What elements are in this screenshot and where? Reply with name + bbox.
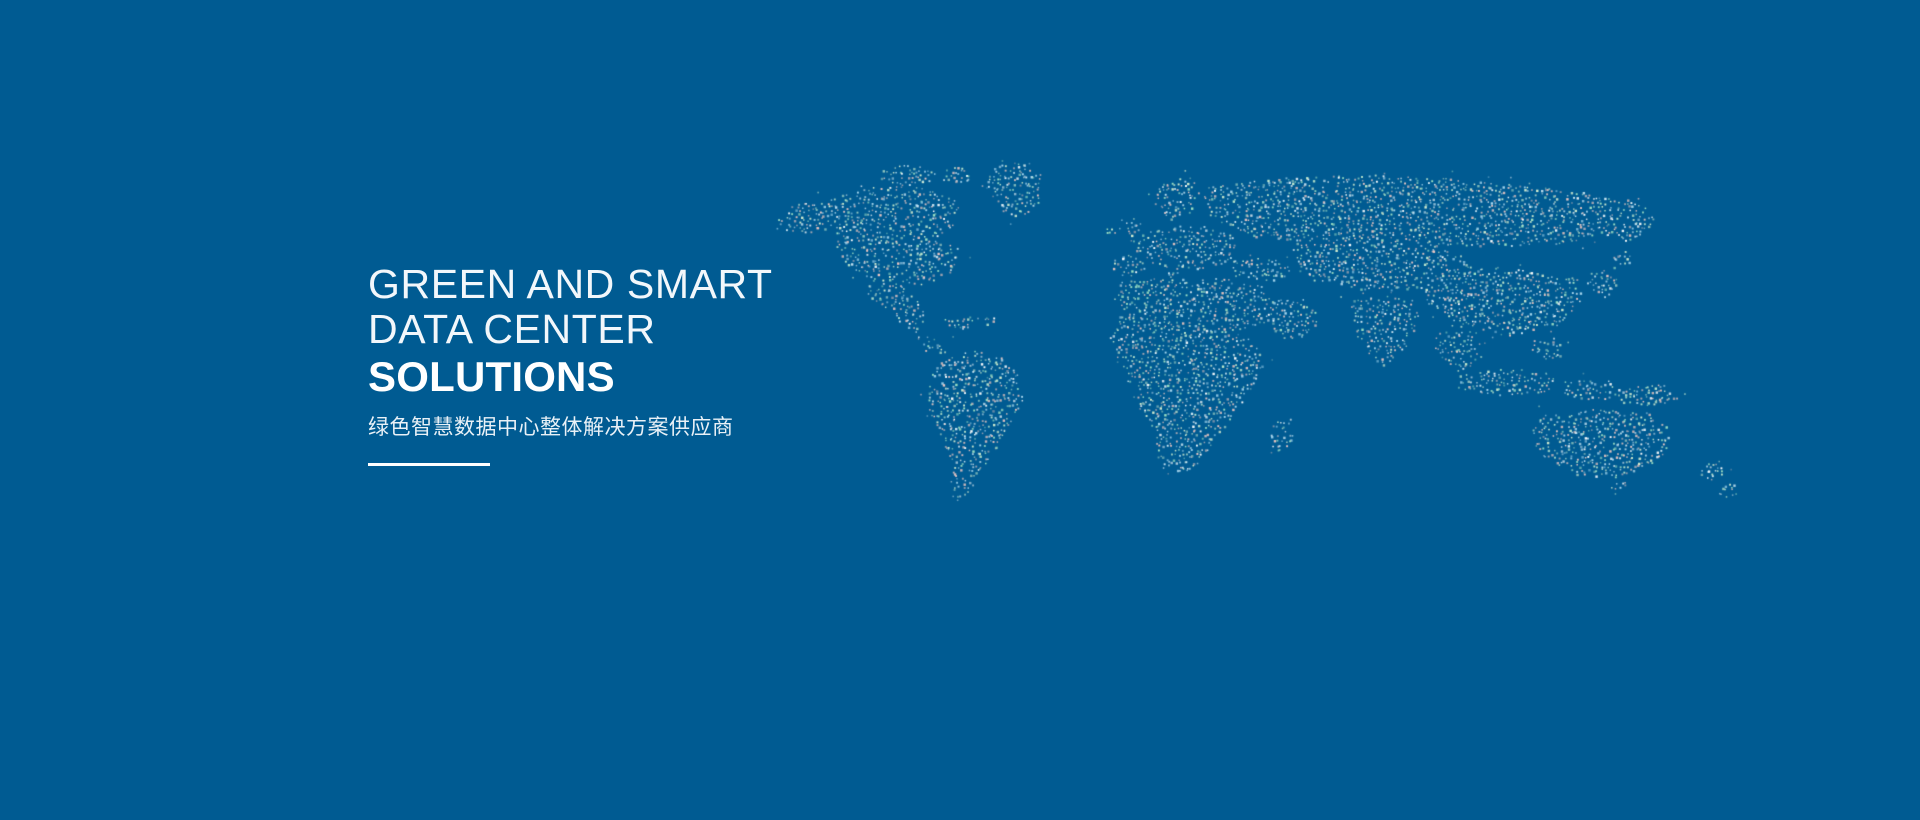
hero-text-block: GREEN AND SMART DATA CENTER SOLUTIONS 绿色… (368, 262, 1008, 466)
headline-line-3: SOLUTIONS (368, 352, 1008, 402)
accent-rule-divider (368, 463, 490, 466)
hero-subtitle-chinese: 绿色智慧数据中心整体解决方案供应商 (368, 413, 1008, 443)
headline-line-2: DATA CENTER (368, 307, 1008, 352)
hero-banner: GREEN AND SMART DATA CENTER SOLUTIONS 绿色… (0, 0, 1920, 820)
headline-line-1: GREEN AND SMART (368, 262, 1008, 307)
